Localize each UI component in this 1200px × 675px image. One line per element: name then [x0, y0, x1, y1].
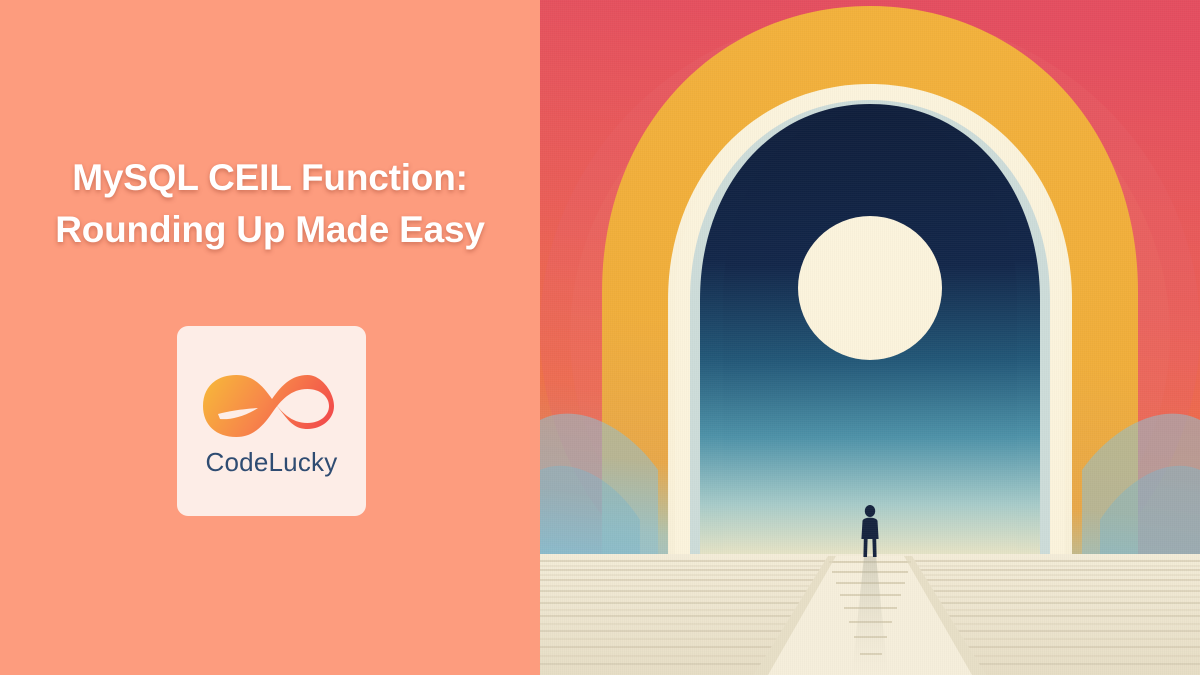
blog-banner: MySQL CEIL Function: Rounding Up Made Ea…: [0, 0, 1200, 675]
infinity-leaf-icon: [196, 367, 348, 445]
page-title-line-2: Rounding Up Made Easy: [30, 204, 510, 256]
brand-name: CodeLucky: [206, 449, 338, 475]
page-title-line-1: MySQL CEIL Function:: [30, 152, 510, 204]
brand-logo-card: CodeLucky: [177, 326, 366, 516]
page-title: MySQL CEIL Function: Rounding Up Made Ea…: [30, 152, 510, 256]
hero-artwork: [540, 0, 1200, 675]
left-text-panel: MySQL CEIL Function: Rounding Up Made Ea…: [0, 0, 540, 675]
